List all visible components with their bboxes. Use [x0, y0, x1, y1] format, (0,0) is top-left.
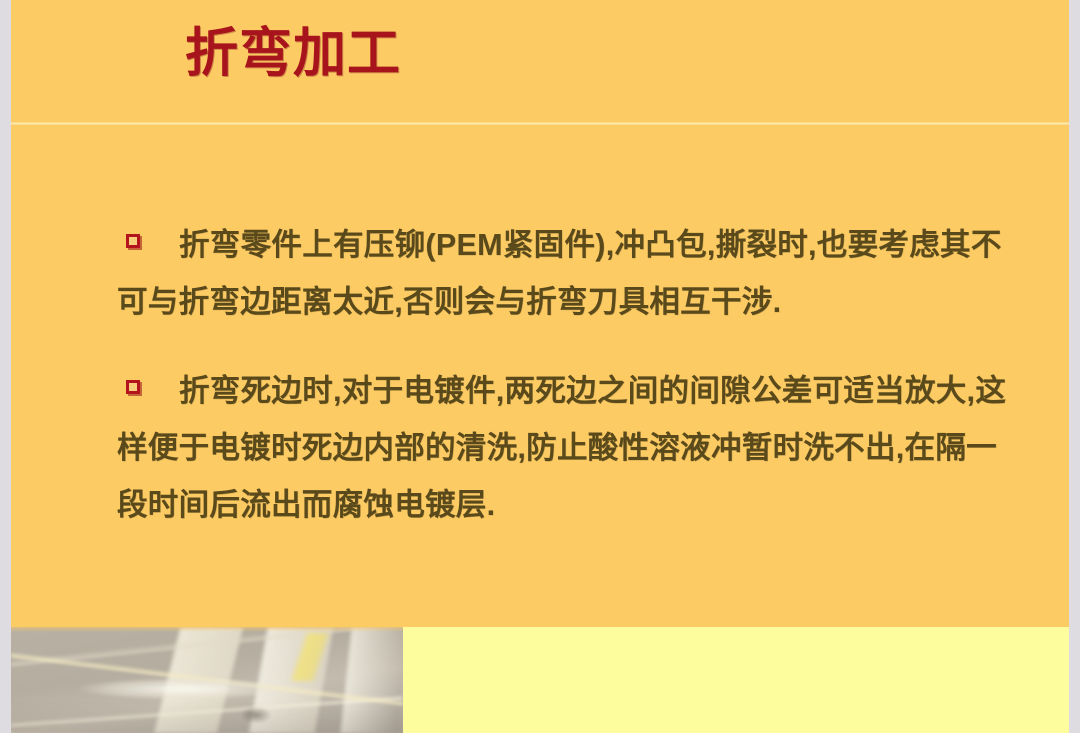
square-bullet-icon	[126, 234, 140, 248]
photo-top-tint-layer	[11, 627, 403, 733]
slide-title-area: 折弯加工	[11, 0, 1069, 123]
list-item: 折弯死边时,对于电镀件,两死边之间的间隙公差可适当放大,这样便于电镀时死边内部的…	[117, 363, 1017, 534]
bottom-band	[11, 627, 1069, 733]
slide-root: 折弯加工 折弯零件上有压铆(PEM紧固件),冲凸包,撕裂时,也要考虑其不可与折弯…	[0, 0, 1080, 733]
bullet-text: 折弯死边时,对于电镀件,两死边之间的间隙公差可适当放大,这样便于电镀时死边内部的…	[117, 363, 1017, 534]
slide-body-area: 折弯零件上有压铆(PEM紧固件),冲凸包,撕裂时,也要考虑其不可与折弯边距离太近…	[11, 123, 1069, 627]
bullet-list: 折弯零件上有压铆(PEM紧固件),冲凸包,撕裂时,也要考虑其不可与折弯边距离太近…	[117, 217, 1017, 534]
list-item: 折弯零件上有压铆(PEM紧固件),冲凸包,撕裂时,也要考虑其不可与折弯边距离太近…	[117, 217, 1017, 331]
slide-content-panel: 折弯加工 折弯零件上有压铆(PEM紧固件),冲凸包,撕裂时,也要考虑其不可与折弯…	[11, 0, 1069, 627]
page-title: 折弯加工	[185, 26, 401, 82]
bottom-photo	[11, 627, 403, 733]
square-bullet-icon	[126, 380, 140, 394]
bullet-text: 折弯零件上有压铆(PEM紧固件),冲凸包,撕裂时,也要考虑其不可与折弯边距离太近…	[117, 217, 1017, 331]
